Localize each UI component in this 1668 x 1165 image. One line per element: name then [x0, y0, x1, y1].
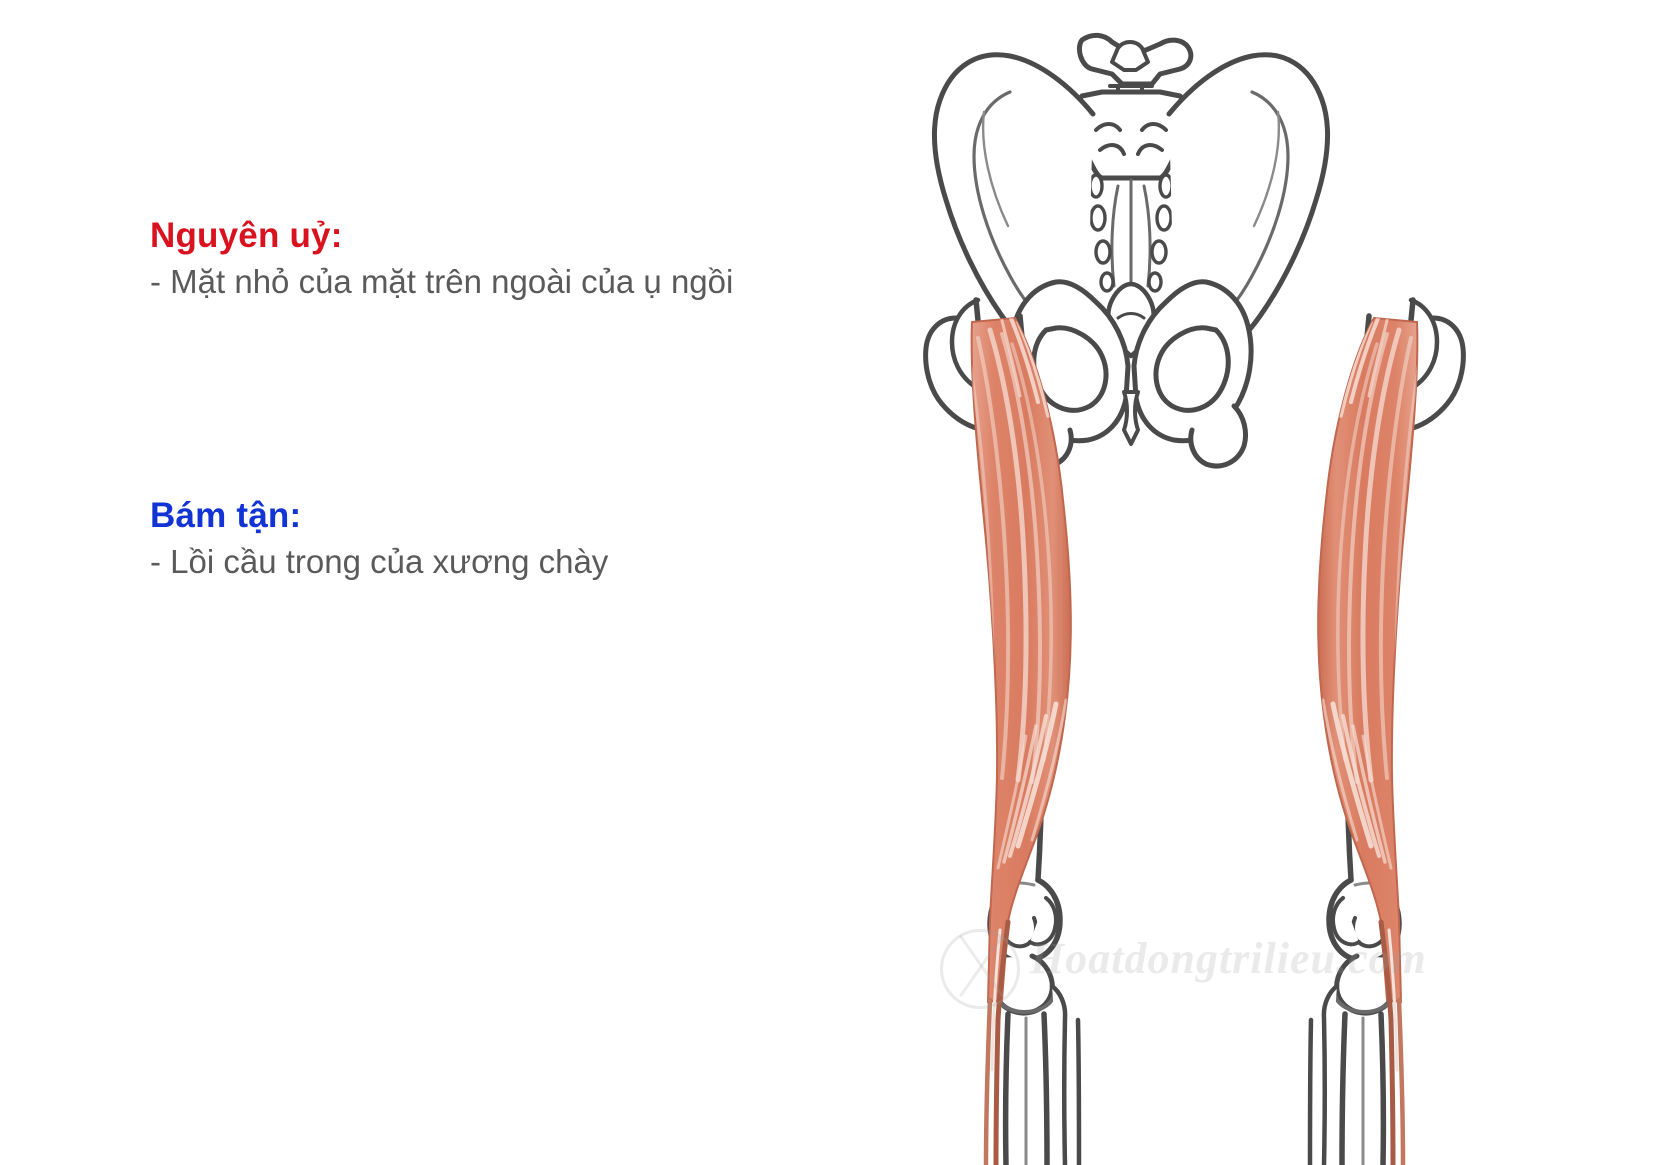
origin-heading: Nguyên uỷ:	[150, 218, 733, 255]
page-canvas: Nguyên uỷ: - Mặt nhỏ của mặt trên ngoài …	[0, 0, 1668, 1165]
semitendinosus-muscle-right-shape	[1318, 312, 1421, 1165]
pubic-symphysis-shape	[1124, 392, 1138, 444]
insertion-heading: Bám tận:	[150, 498, 608, 535]
origin-description: - Mặt nhỏ của mặt trên ngoài của ụ ngồi	[150, 261, 733, 302]
origin-block: Nguyên uỷ: - Mặt nhỏ của mặt trên ngoài …	[150, 218, 733, 302]
lumbar-vertebra-shape	[1079, 35, 1190, 98]
anatomy-illustration	[860, 0, 1668, 1165]
fibula-right-shape	[1310, 986, 1337, 1165]
insertion-description: - Lồi cầu trong của xương chày	[150, 541, 608, 582]
annotation-text-panel: Nguyên uỷ: - Mặt nhỏ của mặt trên ngoài …	[0, 0, 900, 1165]
insertion-block: Bám tận: - Lồi cầu trong của xương chày	[150, 498, 608, 582]
fibula-left-shape	[1052, 986, 1079, 1165]
